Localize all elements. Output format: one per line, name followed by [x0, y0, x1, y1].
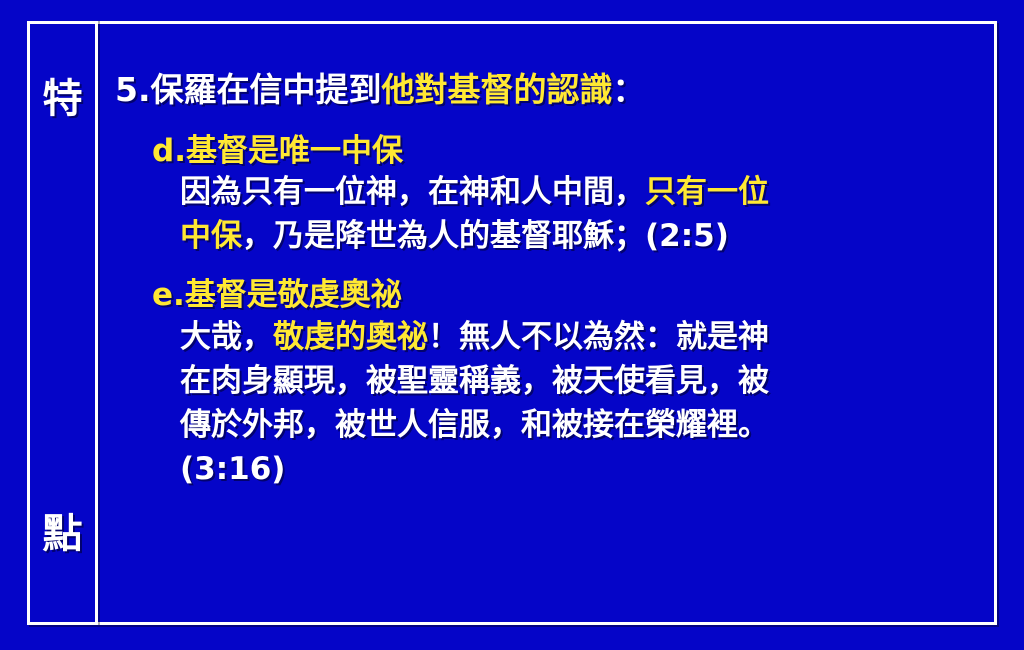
section-d-title-text: 基督是唯一中保 — [186, 133, 403, 169]
presentation-slide: 特 點 5.保羅在信中提到他對基督的認識： d.基督是唯一中保 因為只有一位神，… — [0, 0, 1024, 650]
body-text: 大哉， — [180, 319, 273, 355]
side-label-column: 特 點 — [30, 24, 95, 622]
body-text: ，乃是降世為人的基督耶穌；(2:5) — [242, 218, 729, 254]
page-title: 5.保羅在信中提到他對基督的認識： — [115, 70, 990, 110]
section-d-line-2: 中保，乃是降世為人的基督耶穌；(2:5) — [180, 214, 990, 258]
heading-text-highlight: 他對基督的認識 — [382, 70, 613, 109]
body-text: 因為只有一位神，在神和人中間， — [180, 174, 645, 210]
section-e: e.基督是敬虔奧祕 大哉，敬虔的奧祕！無人不以為然：就是神 在肉身顯現，被聖靈稱… — [110, 276, 990, 491]
side-label-top: 特 — [30, 79, 95, 119]
section-e-title: e.基督是敬虔奧祕 — [152, 276, 990, 315]
section-e-line-4: (3:16) — [180, 447, 990, 491]
highlighted-text: 敬虔的奧祕 — [273, 319, 428, 355]
highlighted-text: 中保 — [180, 218, 242, 254]
section-d-title: d.基督是唯一中保 — [152, 132, 990, 171]
section-e-line-1: 大哉，敬虔的奧祕！無人不以為然：就是神 — [180, 315, 990, 359]
heading-text-plain: 保羅在信中提到 — [151, 70, 382, 109]
column-divider — [95, 21, 98, 625]
heading-number: 5. — [115, 70, 151, 109]
side-label-bottom: 點 — [30, 514, 95, 554]
body-text: 在肉身顯現，被聖靈稱義，被天使看見，被 — [180, 363, 769, 399]
section-e-marker: e. — [152, 277, 185, 313]
slide-content: 5.保羅在信中提到他對基督的認識： d.基督是唯一中保 因為只有一位神，在神和人… — [110, 70, 990, 610]
section-d-line-1: 因為只有一位神，在神和人中間，只有一位 — [180, 170, 990, 214]
body-text: (3:16) — [180, 451, 285, 487]
body-text: ！無人不以為然：就是神 — [428, 319, 769, 355]
section-e-title-text: 基督是敬虔奧祕 — [185, 277, 402, 313]
section-d-marker: d. — [152, 133, 186, 169]
section-e-line-3: 傳於外邦，被世人信服，和被接在榮耀裡。 — [180, 403, 990, 447]
section-d: d.基督是唯一中保 因為只有一位神，在神和人中間，只有一位 中保，乃是降世為人的… — [110, 132, 990, 259]
highlighted-text: 只有一位 — [645, 174, 769, 210]
heading-text-tail: ： — [613, 70, 646, 109]
body-text: 傳於外邦，被世人信服，和被接在榮耀裡。 — [180, 407, 769, 443]
section-e-line-2: 在肉身顯現，被聖靈稱義，被天使看見，被 — [180, 359, 990, 403]
